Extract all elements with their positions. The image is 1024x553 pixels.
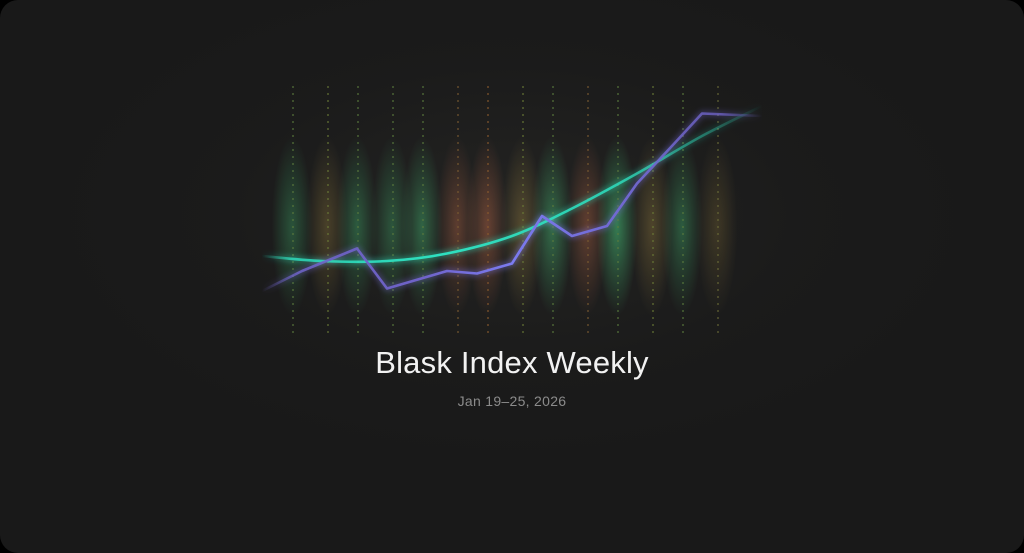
- chart-card: Blask Index Weekly Jan 19–25, 2026: [0, 0, 1024, 553]
- chart-series-svg: [262, 86, 762, 336]
- date-range-label: Jan 19–25, 2026: [0, 392, 1024, 410]
- page-title: Blask Index Weekly: [0, 344, 1024, 382]
- series-actual-line: [262, 114, 762, 292]
- chart-plot-area: [262, 86, 762, 336]
- caption-block: Blask Index Weekly Jan 19–25, 2026: [0, 344, 1024, 410]
